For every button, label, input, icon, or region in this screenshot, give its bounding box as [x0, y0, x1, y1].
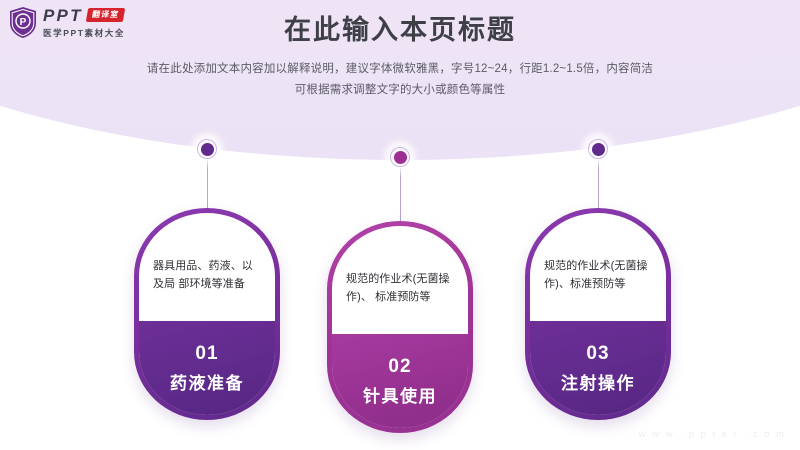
logo-wordmark: PPT — [43, 7, 83, 24]
node-dot-1[interactable] — [194, 136, 220, 162]
step-card-1-footer: 01 药液准备 — [139, 321, 275, 415]
node-dot-2[interactable] — [387, 144, 413, 170]
step-card-1-description: 器具用品、药液、以及局 部环境等准备 — [139, 213, 275, 294]
connector-line-2 — [400, 168, 401, 222]
step-card-3-label: 注射操作 — [561, 369, 635, 394]
step-card-2-description: 规范的作业术(无菌操作)、 标准预防等 — [332, 226, 468, 307]
step-card-2-inner: 规范的作业术(无菌操作)、 标准预防等 02 针具使用 — [332, 226, 468, 428]
page-subtitle: 请在此处添加文本内容加以解释说明，建议字体微软雅黑，字号12~24，行距1.2~… — [0, 59, 800, 102]
step-card-3-inner: 规范的作业术(无菌操作)、标准预防等 03 注射操作 — [530, 213, 666, 415]
step-card-1-inner: 器具用品、药液、以及局 部环境等准备 01 药液准备 — [139, 213, 275, 415]
node-core-1 — [201, 143, 214, 156]
node-dot-3[interactable] — [585, 136, 611, 162]
logo-badge: 翻译室 — [85, 8, 124, 22]
logo-tagline: 医学PPT素材大全 — [43, 27, 125, 39]
site-logo: P PPT 翻译室 医学PPT素材大全 — [8, 6, 125, 39]
step-card-1-number: 01 — [195, 343, 218, 365]
svg-text:P: P — [20, 17, 27, 28]
node-ring-1 — [197, 139, 217, 159]
watermark: w w w . p p t e r . c o m — [639, 429, 786, 440]
node-core-2 — [394, 151, 407, 164]
step-card-2-footer: 02 针具使用 — [332, 334, 468, 428]
step-card-3-number: 03 — [586, 343, 609, 365]
node-core-3 — [592, 143, 605, 156]
step-card-3-footer: 03 注射操作 — [530, 321, 666, 415]
connector-line-1 — [207, 160, 208, 210]
step-card-2[interactable]: 规范的作业术(无菌操作)、 标准预防等 02 针具使用 — [327, 221, 473, 433]
subtitle-line-2: 可根据需求调整文字的大小或颜色等属性 — [0, 80, 800, 101]
connector-line-3 — [598, 160, 599, 210]
shield-icon: P — [8, 6, 38, 39]
node-ring-3 — [588, 139, 608, 159]
subtitle-line-1: 请在此处添加文本内容加以解释说明，建议字体微软雅黑，字号12~24，行距1.2~… — [0, 59, 800, 80]
step-card-3-description: 规范的作业术(无菌操作)、标准预防等 — [530, 213, 666, 294]
step-card-1-label: 药液准备 — [170, 369, 244, 394]
step-card-2-number: 02 — [388, 356, 411, 378]
node-ring-2 — [390, 147, 410, 167]
step-card-2-label: 针具使用 — [363, 382, 437, 407]
step-card-3[interactable]: 规范的作业术(无菌操作)、标准预防等 03 注射操作 — [525, 208, 671, 420]
step-card-1[interactable]: 器具用品、药液、以及局 部环境等准备 01 药液准备 — [134, 208, 280, 420]
